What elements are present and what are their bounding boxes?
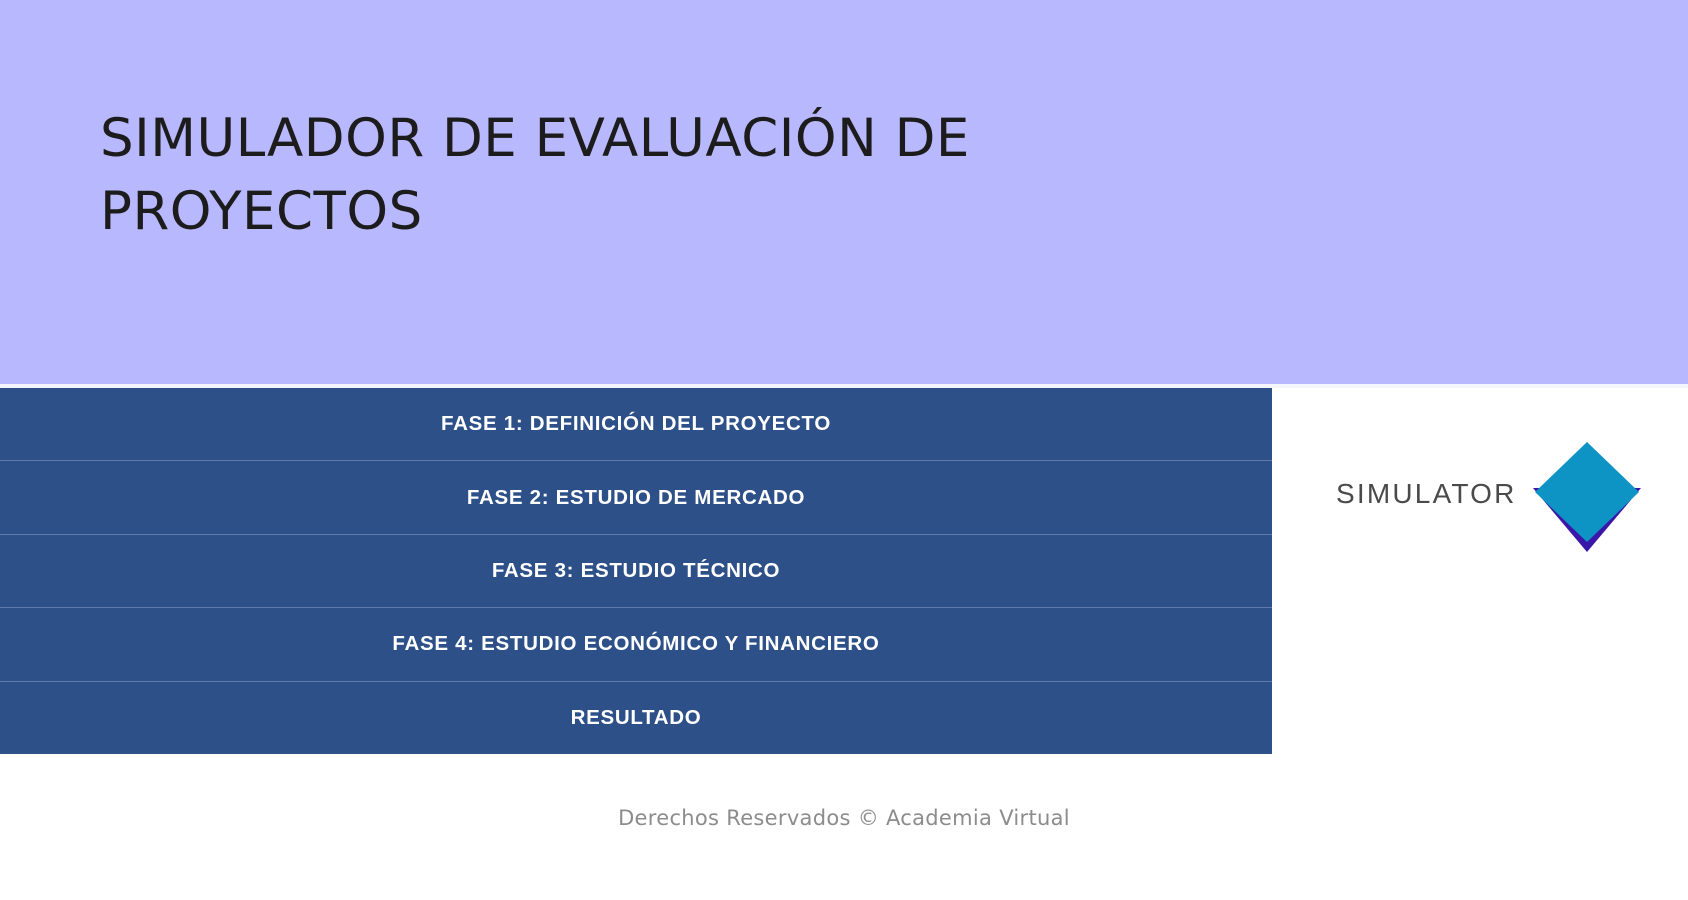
logo-wordmark: SIMULATOR	[1336, 478, 1517, 510]
simulator-diamond-chevron-icon	[1527, 436, 1647, 556]
header-banner: SIMULADOR DE EVALUACIÓN DE PROYECTOS	[0, 0, 1688, 384]
logo-panel: SIMULATOR	[1272, 388, 1688, 754]
nav-item-fase-1[interactable]: FASE 1: DEFINICIÓN DEL PROYECTO	[0, 388, 1272, 461]
app-page: SIMULADOR DE EVALUACIÓN DE PROYECTOS FAS…	[0, 0, 1688, 900]
nav-item-fase-4[interactable]: FASE 4: ESTUDIO ECONÓMICO Y FINANCIERO	[0, 608, 1272, 681]
nav-item-label: FASE 3: ESTUDIO TÉCNICO	[492, 559, 780, 583]
nav-item-label: FASE 4: ESTUDIO ECONÓMICO Y FINANCIERO	[392, 632, 879, 656]
simulator-logo[interactable]: SIMULATOR	[1336, 432, 1647, 556]
nav-item-label: RESULTADO	[571, 706, 702, 730]
nav-item-label: FASE 2: ESTUDIO DE MERCADO	[467, 486, 805, 510]
phase-navigation-menu: FASE 1: DEFINICIÓN DEL PROYECTO FASE 2: …	[0, 388, 1272, 754]
page-footer: Derechos Reservados © Academia Virtual	[0, 754, 1688, 900]
nav-item-fase-3[interactable]: FASE 3: ESTUDIO TÉCNICO	[0, 535, 1272, 608]
nav-item-label: FASE 1: DEFINICIÓN DEL PROYECTO	[441, 412, 831, 436]
nav-item-fase-2[interactable]: FASE 2: ESTUDIO DE MERCADO	[0, 461, 1272, 534]
nav-and-logo-row: FASE 1: DEFINICIÓN DEL PROYECTO FASE 2: …	[0, 388, 1688, 754]
nav-item-resultado[interactable]: RESULTADO	[0, 682, 1272, 754]
page-title: SIMULADOR DE EVALUACIÓN DE PROYECTOS	[0, 102, 1688, 248]
footer-copyright: Derechos Reservados © Academia Virtual	[618, 806, 1070, 830]
